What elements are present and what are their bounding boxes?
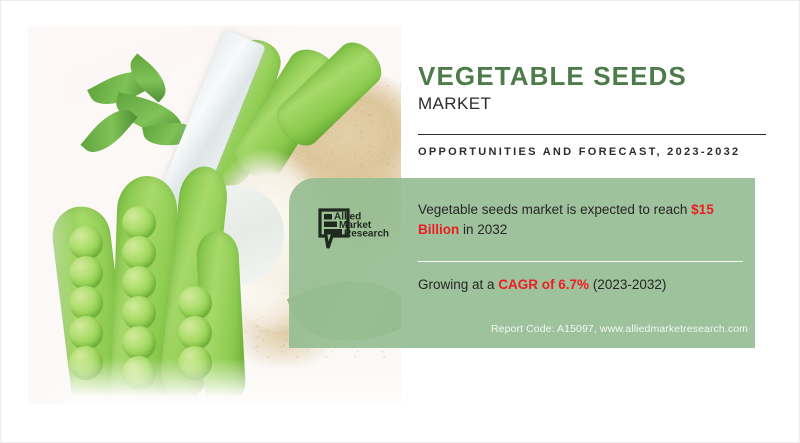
pea bbox=[122, 206, 156, 240]
pea bbox=[69, 226, 103, 260]
pea bbox=[122, 296, 156, 330]
report-code-text: Report Code: A15097, www.alliedmarketres… bbox=[418, 323, 748, 335]
report-subtitle: OPPORTUNITIES AND FORECAST, 2023-2032 bbox=[418, 144, 768, 161]
pea bbox=[122, 236, 156, 270]
page-title: VEGETABLE SEEDS MARKET bbox=[418, 63, 768, 114]
image-bottom-fade bbox=[28, 358, 401, 404]
report-banner-card: VEGETABLE SEEDS MARKET OPPORTUNITIES AND… bbox=[0, 0, 800, 443]
stat1-suffix: in 2032 bbox=[459, 222, 507, 237]
image-left-fade bbox=[28, 26, 74, 404]
stat2-prefix: Growing at a bbox=[418, 277, 498, 292]
pea bbox=[69, 286, 103, 320]
pea bbox=[122, 266, 156, 300]
stat-line-2: Growing at a CAGR of 6.7% (2023-2032) bbox=[418, 275, 728, 295]
stats-panel: Vegetable seeds market is expected to re… bbox=[289, 178, 755, 348]
stat-block-market-size: Vegetable seeds market is expected to re… bbox=[418, 200, 738, 240]
panel-divider bbox=[418, 261, 743, 262]
stat2-suffix: (2023-2032) bbox=[589, 277, 666, 292]
pea bbox=[178, 316, 212, 350]
svg-text:Research: Research bbox=[344, 229, 389, 240]
stat1-prefix: Vegetable seeds market is expected to re… bbox=[418, 202, 691, 217]
stat-block-cagr: Growing at a CAGR of 6.7% (2023-2032) bbox=[418, 275, 728, 295]
title-divider bbox=[418, 134, 766, 135]
stat2-value: CAGR of 6.7% bbox=[498, 277, 589, 292]
pea bbox=[178, 286, 212, 320]
allied-market-research-logo-icon: Allied Market Research bbox=[318, 208, 390, 256]
pea bbox=[69, 316, 103, 350]
title-main: VEGETABLE SEEDS bbox=[418, 63, 768, 90]
pea bbox=[69, 256, 103, 290]
pea bbox=[122, 326, 156, 360]
title-sub: MARKET bbox=[418, 95, 768, 114]
stat-line-1: Vegetable seeds market is expected to re… bbox=[418, 200, 738, 240]
